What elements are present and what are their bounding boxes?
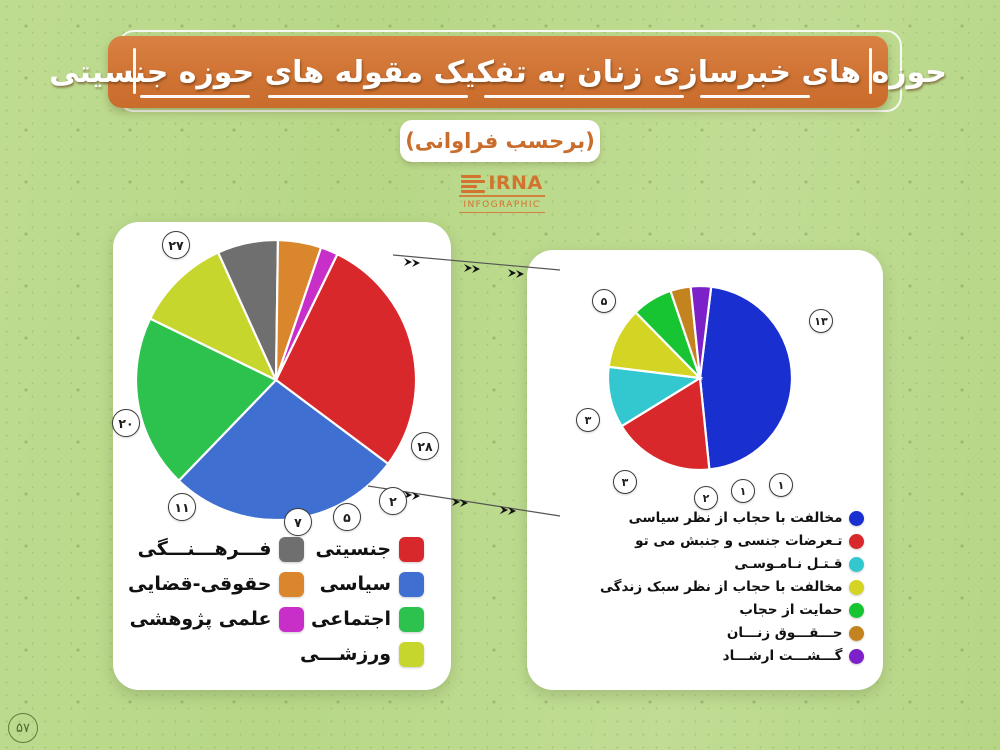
value-callout: ۲۷ [162,231,190,259]
left-legend-swatch [399,607,424,632]
subtitle-box: (برحسب فراوانی) [400,120,600,162]
subtitle-text: (برحسب فراوانی) [405,129,595,153]
value-callout: ۱۳ [809,309,833,333]
irna-logo: IRNA INFOGRAPHIC [452,174,552,216]
left-legend-swatch [279,572,304,597]
left-legend-item[interactable]: جنسیتی [300,536,424,562]
left-legend-item[interactable]: حقوقی-قضایی [128,571,304,597]
right-legend-swatch [849,649,864,664]
page-title: حوزه های خبرسازی زنان به تفکیک مقوله های… [49,55,947,90]
left-legend-swatch [399,537,424,562]
value-callout: ۷ [284,508,312,536]
title-rule-1 [140,95,250,98]
left-legend-item[interactable]: اجتماعی [300,606,424,632]
value-callout: ۲۰ [112,409,140,437]
irna-logo-subtext: INFOGRAPHIC [452,200,552,210]
irna-logo-underline [459,195,545,197]
right-legend-item[interactable]: مخالفت با حجاب از نظر سبک زندگی [600,577,864,597]
left-legend-swatch [399,642,424,667]
right-legend-label: حمایت از حجاب [739,602,842,618]
page-number-badge: ۵۷ [8,713,38,743]
value-callout: ۲ [379,487,407,515]
right-legend-label: گـــشـــت ارشـــاد [723,648,843,664]
left-legend-label: اجتماعی [311,608,391,630]
right-legend-swatch [849,603,864,618]
title-tick-left [133,48,136,94]
value-callout: ۲۸ [411,432,439,460]
right-legend-item[interactable]: حمایت از حجاب [600,600,864,620]
right-legend-item[interactable]: تـعرضات جنسی و جنبش می تو [600,531,864,551]
title-rule-2 [268,95,468,98]
title-rule-4 [700,95,810,98]
right-legend-swatch [849,580,864,595]
value-callout: ۲ [694,486,718,510]
left-legend-item[interactable]: علمی پژوهشی [128,606,304,632]
title-rule-3 [484,95,684,98]
right-legend-label: مخالفت با حجاب از نظر سبک زندگی [600,579,842,595]
left-legend-item[interactable]: فـــرهـــنـــگی [128,536,304,562]
right-legend-item[interactable]: مخالفت با حجاب از نظر سیاسی [600,508,864,528]
left-legend-swatch [279,537,304,562]
left-legend-label: فـــرهـــنـــگی [138,538,272,560]
left-legend-label: جنسیتی [316,538,392,560]
irna-bars-icon [461,175,485,193]
left-legend-swatch [399,572,424,597]
left-legend-label: حقوقی-قضایی [128,573,271,595]
left-legend-item[interactable]: ورزشـــی [300,641,424,667]
value-callout: ۵ [333,503,361,531]
right-legend-label: حـــقـــوق زنـــان [727,625,843,641]
left-legend-swatch [279,607,304,632]
right-legend-item[interactable]: قـتـل نـامـوسـی [600,554,864,574]
value-callout: ۱ [731,479,755,503]
right-legend-item[interactable]: حـــقـــوق زنـــان [600,623,864,643]
right-legend: مخالفت با حجاب از نظر سیاسیتـعرضات جنسی … [600,508,864,669]
right-legend-swatch [849,557,864,572]
right-legend-item[interactable]: گـــشـــت ارشـــاد [600,646,864,666]
value-callout: ۳ [613,470,637,494]
value-callout: ۵ [592,289,616,313]
left-legend-column-primary: جنسیتیسیاسیاجتماعیورزشـــی [300,536,424,676]
right-legend-label: تـعرضات جنسی و جنبش می تو [635,533,842,549]
right-pie-chart [527,250,883,510]
irna-logo-underline-2 [459,212,545,214]
value-callout: ۱ [769,473,793,497]
right-legend-label: قـتـل نـامـوسـی [734,556,842,572]
left-legend-label: ورزشـــی [300,643,391,665]
left-legend-column-secondary: فـــرهـــنـــگیحقوقی-قضاییعلمی پژوهشی [128,536,304,641]
left-legend-label: علمی پژوهشی [130,608,272,630]
pie-slice[interactable] [700,287,792,470]
right-legend-label: مخالفت با حجاب از نظر سیاسی [629,510,843,526]
title-tick-right [869,48,872,94]
irna-logo-text: IRNA [488,174,542,193]
value-callout: ۳ [576,408,600,432]
value-callout: ۱۱ [168,493,196,521]
right-legend-swatch [849,626,864,641]
left-legend-label: سیاسی [320,573,391,595]
left-legend-item[interactable]: سیاسی [300,571,424,597]
right-legend-swatch [849,534,864,549]
right-legend-swatch [849,511,864,526]
